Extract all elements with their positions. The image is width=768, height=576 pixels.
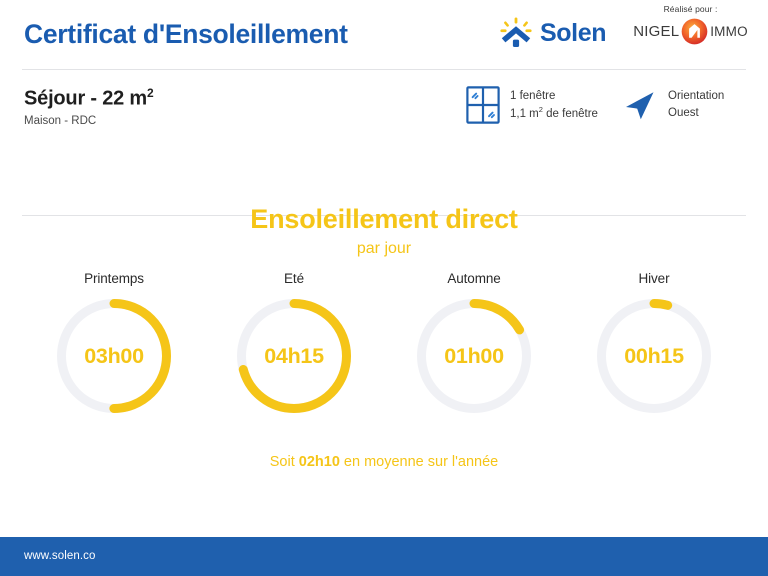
season-label: Hiver: [638, 271, 669, 286]
solen-wordmark: Solen: [540, 21, 606, 46]
yearly-average-line: Soit 02h10 en moyenne sur l'année: [0, 454, 768, 470]
season-gauge-automne: Automne01h00: [417, 271, 531, 413]
season-label: Automne: [447, 271, 500, 286]
compass-arrow-icon: [620, 86, 658, 124]
orientation-label: Orientation: [668, 90, 724, 102]
room-title-text: Séjour - 22 m: [24, 88, 147, 110]
partner-word-right: IMMO: [710, 25, 748, 39]
season-donut: 03h00: [57, 299, 171, 413]
certificate-page: Certificat d'Ensoleillement: [0, 0, 768, 576]
solen-brand-logo: Solen: [500, 17, 606, 49]
average-suffix: en moyenne sur l'année: [340, 454, 498, 470]
page-header: Certificat d'Ensoleillement: [0, 0, 768, 69]
window-area-prefix: 1,1 m: [510, 107, 539, 119]
season-donut: 00h15: [597, 299, 711, 413]
page-title: Certificat d'Ensoleillement: [24, 19, 348, 50]
room-title-superscript: 2: [147, 86, 153, 100]
window-fact: 1 fenêtre 1,1 m2 de fenêtre: [466, 86, 598, 124]
season-gauges-row: Printemps03h00Eté04h15Automne01h00Hiver0…: [0, 271, 768, 413]
orientation-fact-text: Orientation Ouest: [668, 88, 724, 121]
season-label: Eté: [284, 271, 304, 286]
room-info-bar: Séjour - 22 m2 Maison - RDC 1 fenêt: [0, 70, 768, 145]
page-footer: www.solen.co: [0, 537, 768, 576]
sunlight-title: Ensoleillement direct: [0, 204, 768, 235]
average-prefix: Soit: [270, 454, 299, 470]
season-value: 03h00: [57, 299, 171, 413]
season-gauge-et: Eté04h15: [237, 271, 351, 413]
window-icon: [466, 86, 500, 124]
orientation-fact: Orientation Ouest: [620, 86, 724, 124]
sunlight-section: Ensoleillement direct par jour Printemps…: [0, 146, 768, 534]
season-gauge-printemps: Printemps03h00: [57, 271, 171, 413]
season-value: 01h00: [417, 299, 531, 413]
footer-website-link[interactable]: www.solen.co: [24, 550, 96, 562]
season-value: 00h15: [597, 299, 711, 413]
orientation-value: Ouest: [668, 107, 699, 119]
room-title: Séjour - 22 m2: [24, 86, 153, 111]
partner-block: Réalisé pour : NIGEL: [628, 4, 753, 45]
season-gauge-hiver: Hiver00h15: [597, 271, 711, 413]
nigel-n-badge-icon: [680, 18, 709, 45]
season-donut: 01h00: [417, 299, 531, 413]
window-fact-text: 1 fenêtre 1,1 m2 de fenêtre: [510, 88, 598, 122]
sun-house-icon: [500, 17, 532, 49]
season-label: Printemps: [84, 271, 144, 286]
partner-word-left: NIGEL: [633, 24, 679, 39]
season-donut: 04h15: [237, 299, 351, 413]
nigel-immo-logo: NIGEL IMMO: [628, 18, 753, 45]
season-value: 04h15: [237, 299, 351, 413]
room-subtitle: Maison - RDC: [24, 115, 96, 127]
sunlight-subtitle: par jour: [0, 240, 768, 258]
window-count-line: 1 fenêtre: [510, 90, 555, 102]
partner-caption: Réalisé pour :: [628, 4, 753, 14]
window-area-suffix: de fenêtre: [543, 107, 598, 119]
average-value: 02h10: [299, 454, 340, 470]
